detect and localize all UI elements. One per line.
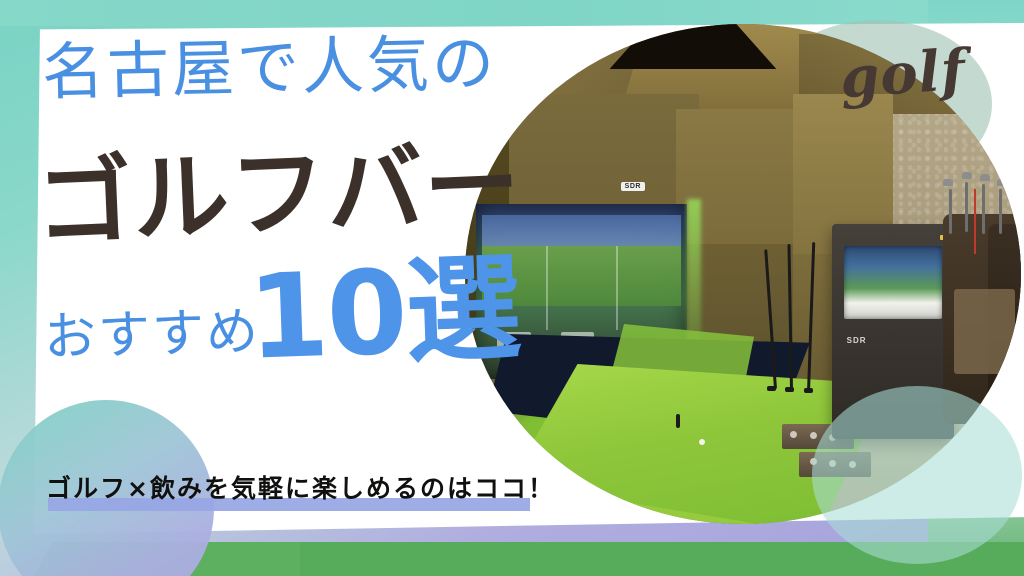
golf-club-head-3: [804, 388, 813, 393]
iron-shaft-3: [982, 184, 985, 234]
iron-head-4: [997, 179, 1007, 186]
golf-tee: [676, 414, 680, 428]
count-label: 10選: [246, 251, 521, 376]
screen-divider-2: [616, 246, 618, 330]
golf-club-head-2: [785, 387, 794, 392]
iron-shaft-1: [949, 189, 952, 234]
tagline-text: ゴルフ×飲みを気軽に楽しめるのはココ！: [46, 474, 555, 504]
tee-block-dot-2: [810, 432, 817, 439]
kiosk-touchscreen: [844, 246, 942, 319]
recommend-label: おすすめ: [43, 307, 260, 365]
kiosk-brand-label: SDR: [847, 336, 867, 345]
iron-shaft-4: [999, 189, 1002, 234]
tee-block-dot-1: [790, 431, 797, 438]
iron-head-1: [943, 179, 953, 186]
golf-script-accent: golf: [838, 42, 967, 107]
teal-circle-decoration: [812, 386, 1022, 564]
poster-title: ゴルフバー: [34, 136, 523, 252]
golf-club-head-1: [767, 386, 776, 391]
iron-head-3: [980, 174, 990, 181]
iron-shaft-2: [965, 182, 968, 232]
poster-canvas: SDR SDR: [0, 0, 1024, 576]
poster-subtitle: 名古屋で人気の: [41, 33, 497, 105]
golf-bag-panel: [954, 289, 1015, 374]
screen-divider-1: [546, 246, 548, 330]
red-shaft: [974, 189, 976, 254]
tagline-block: ゴルフ×飲みを気軽に楽しめるのはココ！: [46, 474, 555, 504]
sdr-screen-badge: SDR: [621, 182, 645, 191]
iron-head-2: [962, 172, 972, 179]
golf-ball: [699, 439, 705, 445]
